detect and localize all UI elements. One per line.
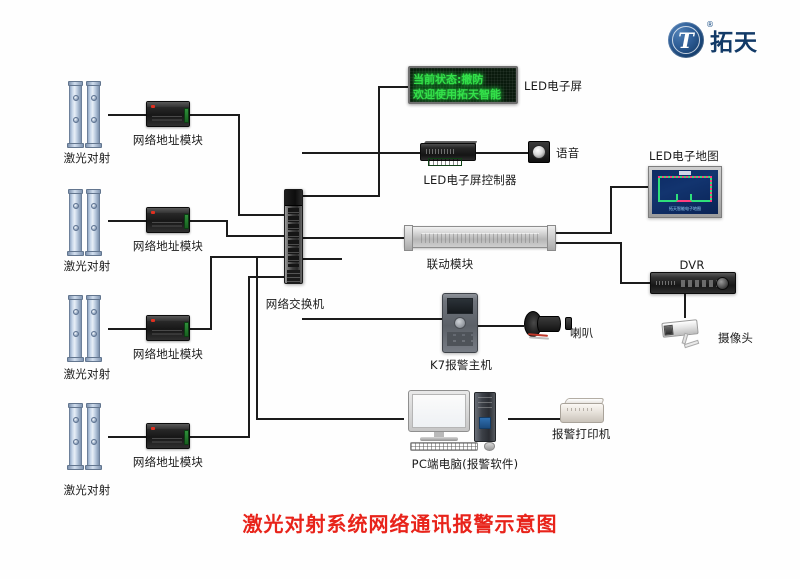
- post-cap: [86, 295, 101, 300]
- wire-module3-to-switch: [210, 256, 284, 258]
- k7-keypad: [447, 332, 473, 346]
- label-network-address-module-3: 网络地址模块: [133, 346, 203, 362]
- laser-beam-sensor-4: [68, 400, 106, 468]
- pc-screen: [412, 394, 466, 428]
- k7-display: [447, 298, 473, 314]
- wire-linkage-to-ledmap-v: [610, 186, 612, 234]
- dvr-device: [650, 272, 736, 294]
- power-led-icon: [151, 319, 155, 323]
- diagram-title: 激光对射系统网络通讯报警示意图: [243, 508, 558, 537]
- laser-post-left: [69, 192, 82, 254]
- led-electronic-map: 拓天智能电子地图: [648, 166, 722, 218]
- printer-body: [560, 403, 604, 423]
- post-base: [67, 143, 84, 148]
- horn-wire-negative: [529, 336, 549, 339]
- alarm-printer: [560, 396, 606, 426]
- wire-module1-down: [238, 114, 240, 216]
- power-led-icon: [151, 211, 155, 215]
- wire-dvr-to-camera: [684, 294, 686, 318]
- laser-lens-icon: [91, 439, 97, 445]
- network-address-module-4: [146, 423, 190, 449]
- pc-tower: [474, 392, 496, 442]
- label-led-display-board: LED电子屏: [524, 78, 582, 94]
- speaker-icon: [532, 145, 546, 159]
- module-print: [152, 116, 182, 123]
- siren-horn: [524, 311, 572, 341]
- wire-k7-to-siren: [478, 325, 524, 327]
- post-base: [67, 251, 84, 256]
- wire-sensor4-to-module: [108, 436, 146, 438]
- network-address-module-1: [146, 101, 190, 127]
- label-network-address-module-2: 网络地址模块: [133, 238, 203, 254]
- laser-post-right: [87, 406, 100, 468]
- wire-switch-to-ledboard-v: [378, 86, 380, 197]
- k7-alarm-host: [442, 293, 478, 353]
- wire-module4-out: [190, 436, 250, 438]
- led-display-board: 当前状态:撤防 欢迎使用拓天智能: [408, 66, 518, 104]
- module-print: [152, 438, 182, 445]
- label-laser-sensor-4: 激光对射: [64, 482, 111, 498]
- printer-paper-slot: [567, 408, 593, 411]
- led-map-caption: 拓天智能电子地图: [652, 206, 718, 212]
- wire-sensor1-to-module: [108, 114, 146, 116]
- controller-terminal: [428, 158, 462, 166]
- led-map-screen: 拓天智能电子地图: [652, 170, 718, 214]
- terminal-block: [184, 214, 189, 229]
- cctv-camera: [660, 317, 710, 351]
- power-led-icon: [151, 427, 155, 431]
- pc-monitor: [408, 390, 470, 432]
- wire-switch-to-pc-h1: [302, 258, 342, 260]
- wire-linkage-out-top: [556, 232, 612, 234]
- terminal-block: [184, 322, 189, 337]
- laser-lens-icon: [91, 309, 97, 315]
- laser-lens-icon: [73, 309, 79, 315]
- label-k7-alarm-host: K7报警主机: [430, 357, 492, 373]
- tower-drive-bay: [478, 397, 492, 411]
- laser-lens-icon: [73, 117, 79, 123]
- map-top-tag: [679, 171, 691, 175]
- laser-lens-icon: [73, 225, 79, 231]
- label-alarm-printer: 报警打印机: [552, 426, 611, 442]
- laser-beam-sensor-2: [68, 186, 106, 254]
- laser-lens-icon: [73, 203, 79, 209]
- post-base: [85, 143, 102, 148]
- post-base: [85, 465, 102, 470]
- laser-lens-icon: [91, 203, 97, 209]
- label-led-screen-controller: LED电子屏控制器: [423, 172, 516, 188]
- monitor-base: [420, 437, 458, 441]
- diagram-canvas: T ® 拓天: [0, 0, 800, 579]
- laser-lens-icon: [91, 95, 97, 101]
- voice-module: [528, 141, 550, 163]
- wire-switch-to-ledboard-h: [302, 195, 380, 197]
- wire-sensor2-to-module: [108, 220, 146, 222]
- linkage-module: [404, 226, 556, 248]
- wire-ledmap-in: [610, 186, 648, 188]
- laser-post-right: [87, 298, 100, 360]
- map-notch: [676, 194, 692, 202]
- led-text-line2: 欢迎使用拓天智能: [413, 89, 513, 100]
- wire-module2-to-switch: [226, 235, 284, 237]
- laser-lens-icon: [73, 439, 79, 445]
- wire-switch-to-pc-v: [256, 258, 258, 420]
- wire-module4-to-switch: [248, 276, 284, 278]
- laser-beam-sensor-3: [68, 292, 106, 360]
- post-cap: [86, 81, 101, 86]
- laser-post-left: [69, 84, 82, 146]
- post-base: [85, 357, 102, 362]
- laser-post-right: [87, 84, 100, 146]
- dvr-logo: [656, 281, 676, 285]
- laser-lens-icon: [73, 95, 79, 101]
- label-led-map: LED电子地图: [649, 148, 719, 164]
- wire-module1-out: [190, 114, 240, 116]
- wire-pc-to-printer: [508, 418, 560, 420]
- wire-switch-to-linkage: [302, 237, 404, 239]
- wire-pc-in: [256, 418, 404, 420]
- mouse: [484, 442, 495, 451]
- module-print: [152, 330, 182, 337]
- registered-mark: ®: [706, 20, 714, 29]
- label-siren-horn: 喇叭: [570, 325, 593, 341]
- post-base: [67, 465, 84, 470]
- pc-workstation: [404, 390, 514, 452]
- laser-post-left: [69, 406, 82, 468]
- wire-sensor3-to-module: [108, 328, 146, 330]
- horn-body: [537, 316, 561, 332]
- post-base: [67, 357, 84, 362]
- rack-ear-left: [404, 225, 413, 251]
- label-pc-workstation: PC端电脑(报警软件): [412, 456, 519, 472]
- laser-lens-icon: [91, 417, 97, 423]
- post-base: [85, 251, 102, 256]
- switch-foot: [287, 270, 300, 283]
- controller-strip: [426, 149, 456, 154]
- wire-ledctrl-in: [376, 152, 420, 154]
- label-laser-sensor-2: 激光对射: [64, 258, 111, 274]
- wire-module2-out: [190, 220, 228, 222]
- wire-linkage-out-bottom: [556, 242, 622, 244]
- wire-switch-to-k7: [302, 318, 442, 320]
- tower-front-panel: [479, 417, 491, 429]
- laser-lens-icon: [91, 331, 97, 337]
- post-cap: [86, 189, 101, 194]
- wire-module3-up: [210, 256, 212, 330]
- led-text-line1: 当前状态:撤防: [413, 74, 513, 85]
- brand-name: 拓天: [710, 23, 758, 57]
- dvr-buttons: [681, 280, 721, 287]
- laser-lens-icon: [73, 417, 79, 423]
- laser-lens-icon: [91, 117, 97, 123]
- terminal-block: [184, 430, 189, 445]
- label-network-address-module-4: 网络地址模块: [133, 454, 203, 470]
- switch-head: [285, 190, 302, 206]
- module-print: [152, 222, 182, 229]
- label-network-switch: 网络交换机: [266, 296, 325, 312]
- post-cap: [86, 403, 101, 408]
- label-linkage-module: 联动模块: [427, 256, 474, 272]
- laser-lens-icon: [73, 331, 79, 337]
- post-cap: [68, 189, 83, 194]
- label-laser-sensor-1: 激光对射: [64, 150, 111, 166]
- led-screen-controller: [420, 141, 476, 163]
- wire-linkage-to-dvr-v: [620, 242, 622, 284]
- terminal-block: [184, 108, 189, 123]
- post-cap: [68, 295, 83, 300]
- laser-beam-sensor-1: [68, 78, 106, 146]
- logo-glyph: T: [668, 22, 704, 58]
- network-address-module-3: [146, 315, 190, 341]
- linkage-faceplate: [421, 233, 539, 243]
- keyboard: [410, 442, 478, 451]
- wire-ledctrl-to-voice: [476, 152, 528, 154]
- label-laser-sensor-3: 激光对射: [64, 366, 111, 382]
- camera-barrel: [661, 319, 698, 338]
- dvr-jog-dial: [716, 277, 729, 290]
- power-led-icon: [151, 105, 155, 109]
- label-dvr: DVR: [679, 258, 704, 272]
- label-voice-module: 语音: [556, 145, 579, 161]
- label-network-address-module-1: 网络地址模块: [133, 132, 203, 148]
- post-cap: [68, 81, 83, 86]
- brand-logo-mark: T ®: [668, 22, 704, 58]
- label-camera: 摄像头: [718, 330, 753, 346]
- wire-ledboard-in: [378, 86, 408, 88]
- wire-switch-to-ledctrl-h1: [302, 152, 378, 154]
- post-cap: [68, 403, 83, 408]
- network-address-module-2: [146, 207, 190, 233]
- wire-module3-out: [190, 328, 212, 330]
- wire-dvr-in: [620, 282, 650, 284]
- switch-ports: [288, 208, 299, 267]
- k7-nav-dial: [454, 317, 466, 329]
- network-switch: [284, 189, 303, 284]
- camera-lens-icon: [664, 325, 674, 336]
- rack-ear-right: [547, 225, 556, 251]
- wire-module1-to-switch: [238, 214, 284, 216]
- wire-module4-up: [248, 276, 250, 438]
- laser-post-left: [69, 298, 82, 360]
- brand-logo: T ® 拓天: [668, 22, 758, 58]
- laser-lens-icon: [91, 225, 97, 231]
- laser-post-right: [87, 192, 100, 254]
